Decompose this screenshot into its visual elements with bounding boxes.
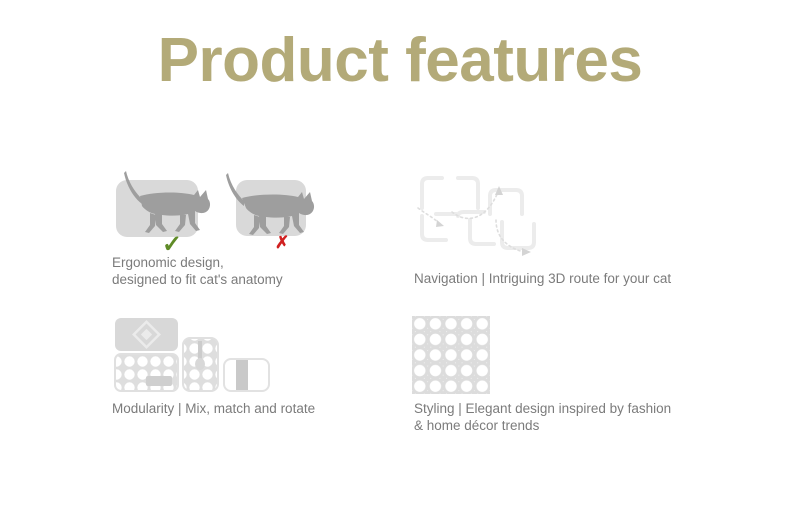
feature-ergonomic-caption: Ergonomic design, designed to fit cat's … — [112, 254, 283, 288]
3d-route-grid-with-dotted-arrows-icon — [412, 168, 542, 256]
quatrefoil-lattice-pattern-swatch-icon — [412, 316, 490, 394]
stacked-modular-boxes-icon — [110, 316, 270, 394]
two-cats-on-mats-comparison-icon: ✓ ✗ — [110, 168, 325, 258]
module-right-plain — [224, 359, 269, 391]
module-bottom-patterned — [115, 354, 178, 391]
module-tall-patterned — [183, 338, 218, 391]
feature-styling-caption: Styling | Elegant design inspired by fas… — [414, 400, 671, 434]
red-cross-mark: ✗ — [275, 233, 289, 252]
feature-navigation-caption: Navigation | Intriguing 3D route for you… — [414, 270, 671, 287]
module-top-solid — [115, 318, 178, 351]
page-title: Product features — [0, 28, 800, 93]
feature-modularity-caption: Modularity | Mix, match and rotate — [112, 400, 315, 417]
